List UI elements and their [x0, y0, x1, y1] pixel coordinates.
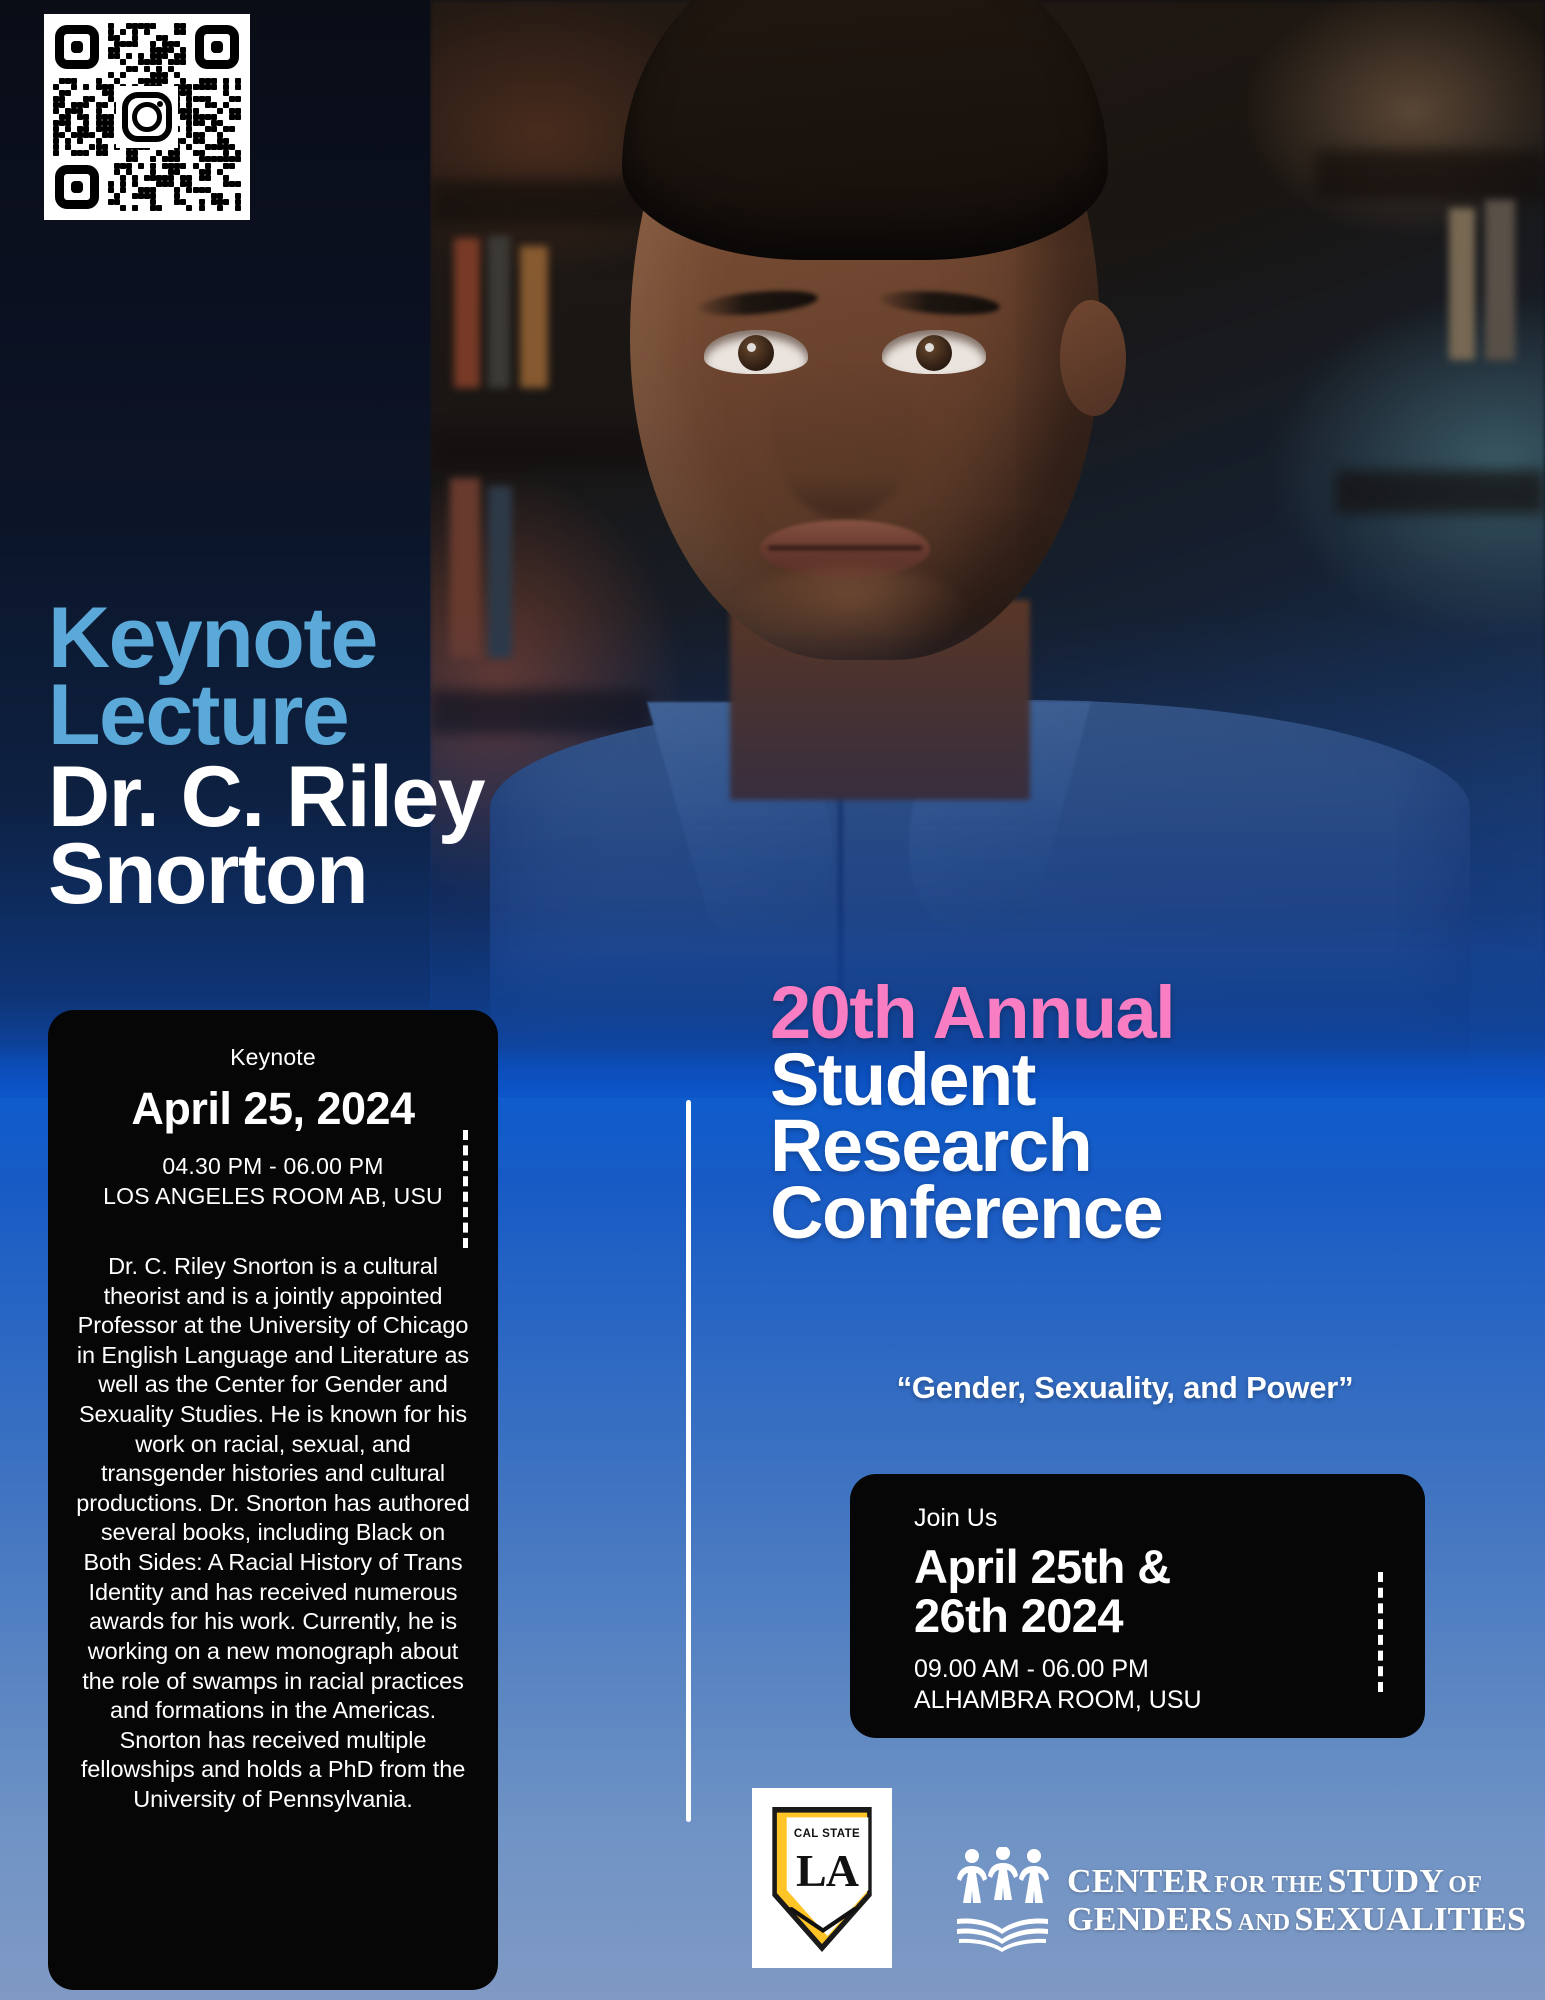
vertical-divider	[686, 1100, 691, 1822]
keynote-card-date: April 25, 2024	[74, 1083, 472, 1135]
event-poster: Keynote Lecture Dr. C. Riley Snorton Key…	[0, 0, 1545, 2000]
keynote-details-card: Keynote April 25, 2024 04.30 PM - 06.00 …	[48, 1010, 498, 1990]
csgs-for-the: FOR THE	[1215, 1872, 1324, 1898]
csgs-of: OF	[1448, 1872, 1482, 1898]
csgs-genders: GENDERS	[1067, 1901, 1233, 1938]
conference-card-date-line-2: 26th 2024	[914, 1592, 1425, 1641]
conference-card-date-line-1: April 25th &	[914, 1543, 1425, 1592]
la-wordmark: LA	[785, 1844, 869, 1897]
keynote-line-1: Keynote	[48, 600, 668, 677]
csgs-study: STUDY	[1328, 1863, 1445, 1900]
qr-finder-top-left	[55, 25, 99, 69]
dashed-divider-right	[1378, 1572, 1383, 1692]
keynote-card-room: LOS ANGELES ROOM AB, USU	[74, 1183, 472, 1210]
keynote-headline: Keynote Lecture Dr. C. Riley Snorton	[48, 600, 668, 914]
qr-finder-top-right	[195, 25, 239, 69]
conference-annual-label: 20th Annual	[770, 980, 1545, 1047]
photo-blue-fade	[430, 0, 1545, 1110]
conference-line-3: Research	[770, 1113, 1545, 1180]
conference-line-2: Student	[770, 1047, 1545, 1114]
conference-line-4: Conference	[770, 1180, 1545, 1247]
keynote-line-2: Lecture	[48, 677, 668, 754]
conference-headline: 20th Annual Student Research Conference	[770, 980, 1545, 1246]
people-over-book-icon	[955, 1847, 1051, 1955]
csgs-logo: CENTER FOR THE STUDY OF GENDERS AND SEXU…	[955, 1836, 1515, 1966]
dashed-divider-left	[463, 1130, 468, 1248]
conference-card-room: ALHAMBRA ROOM, USU	[914, 1686, 1425, 1715]
instagram-icon	[116, 86, 178, 148]
cal-state-wordmark: CAL STATE	[785, 1828, 869, 1840]
csgs-and: AND	[1237, 1910, 1290, 1936]
keynote-card-eyebrow: Keynote	[74, 1044, 472, 1071]
cal-state-la-logo: CAL STATE LA	[752, 1788, 892, 1968]
conference-card-eyebrow: Join Us	[914, 1504, 1425, 1533]
conference-tagline: “Gender, Sexuality, and Power”	[700, 1370, 1545, 1406]
speaker-bio: Dr. C. Riley Snorton is a cultural theor…	[74, 1252, 472, 1815]
speaker-name-line-1: Dr. C. Riley	[48, 759, 668, 836]
shield-swoosh-icon	[784, 1906, 862, 1936]
conference-details-card: Join Us April 25th & 26th 2024 09.00 AM …	[850, 1474, 1425, 1738]
speaker-portrait-photo	[430, 0, 1545, 1110]
csgs-sexualities: SEXUALITIES	[1294, 1901, 1526, 1938]
conference-card-time: 09.00 AM - 06.00 PM	[914, 1655, 1425, 1684]
qr-finder-bottom-left	[55, 165, 99, 209]
csgs-center: CENTER	[1067, 1863, 1211, 1900]
speaker-name-line-2: Snorton	[48, 836, 668, 913]
instagram-qr-code[interactable]	[44, 14, 250, 220]
keynote-card-time: 04.30 PM - 06.00 PM	[74, 1153, 472, 1180]
